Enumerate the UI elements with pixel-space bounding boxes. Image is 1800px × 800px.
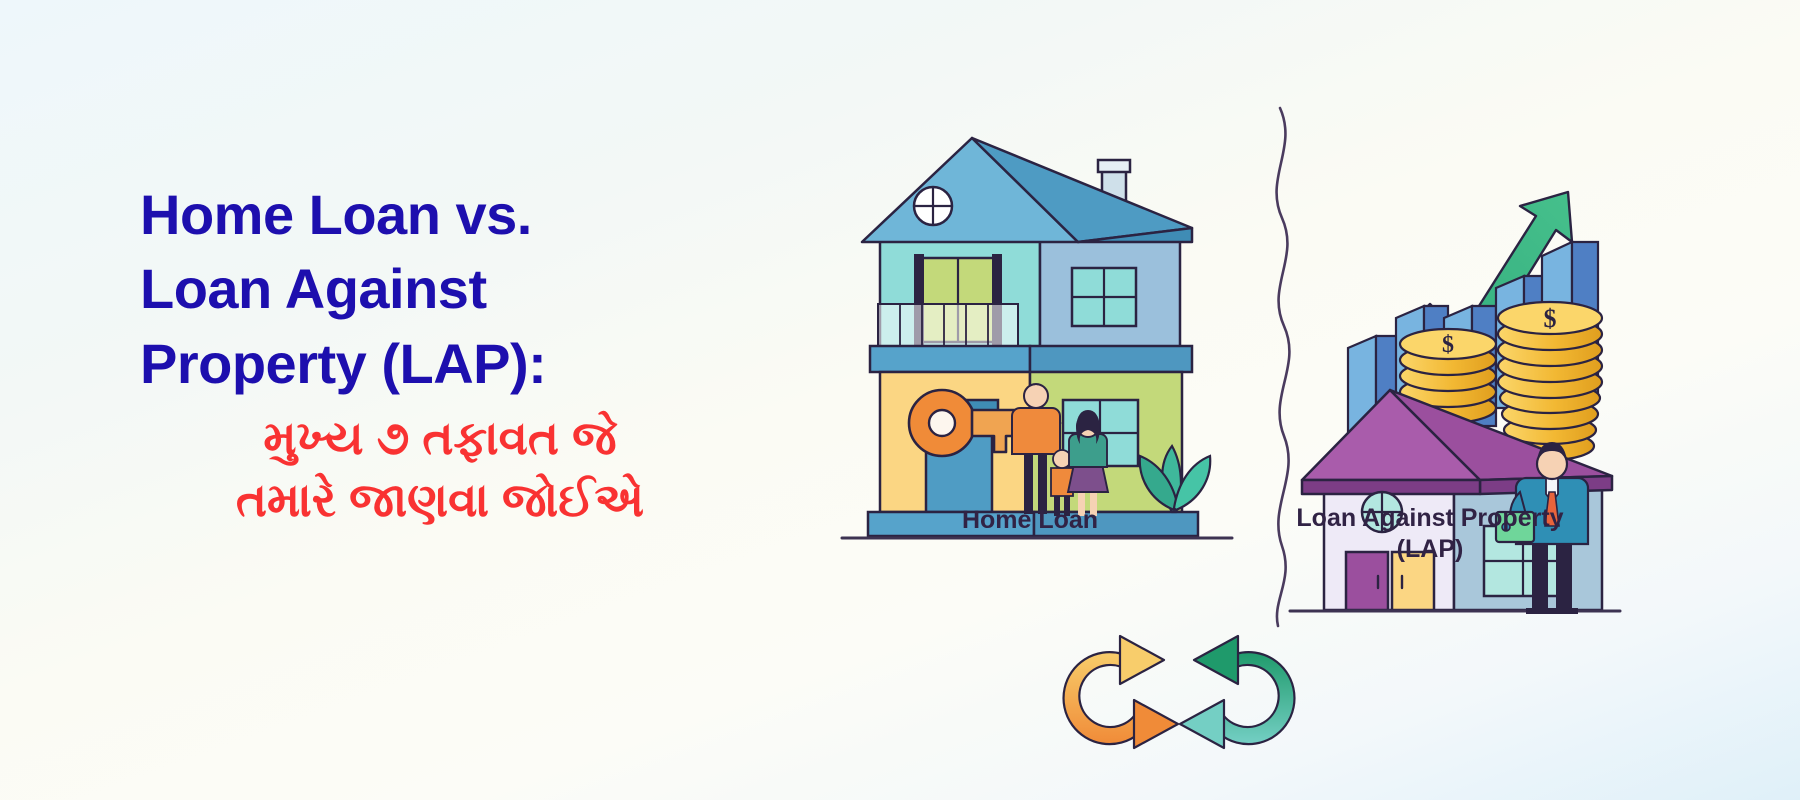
balcony-icon	[878, 304, 1018, 346]
home-loan-illustration	[842, 138, 1232, 538]
circular-exchange-arrows-icon	[1064, 636, 1295, 748]
label-loan-against-property: Loan Against Property (LAP)	[1240, 503, 1620, 564]
headline-block: Home Loan vs. Loan Against Property (LAP…	[140, 178, 780, 531]
label-home-loan: Home Loan	[880, 505, 1180, 536]
headline-gujarati: મુખ્ય ૭ તફાવત જે તમારે જાણવા જોઈએ	[140, 407, 740, 531]
svg-text:$: $	[1544, 304, 1557, 333]
banner-root: Home Loan vs. Loan Against Property (LAP…	[0, 0, 1800, 800]
illustration-svg: $ $	[820, 60, 1780, 760]
headline-english: Home Loan vs. Loan Against Property (LAP…	[140, 178, 780, 401]
illustration-area: $ $	[820, 60, 1780, 760]
svg-text:$: $	[1442, 332, 1454, 358]
